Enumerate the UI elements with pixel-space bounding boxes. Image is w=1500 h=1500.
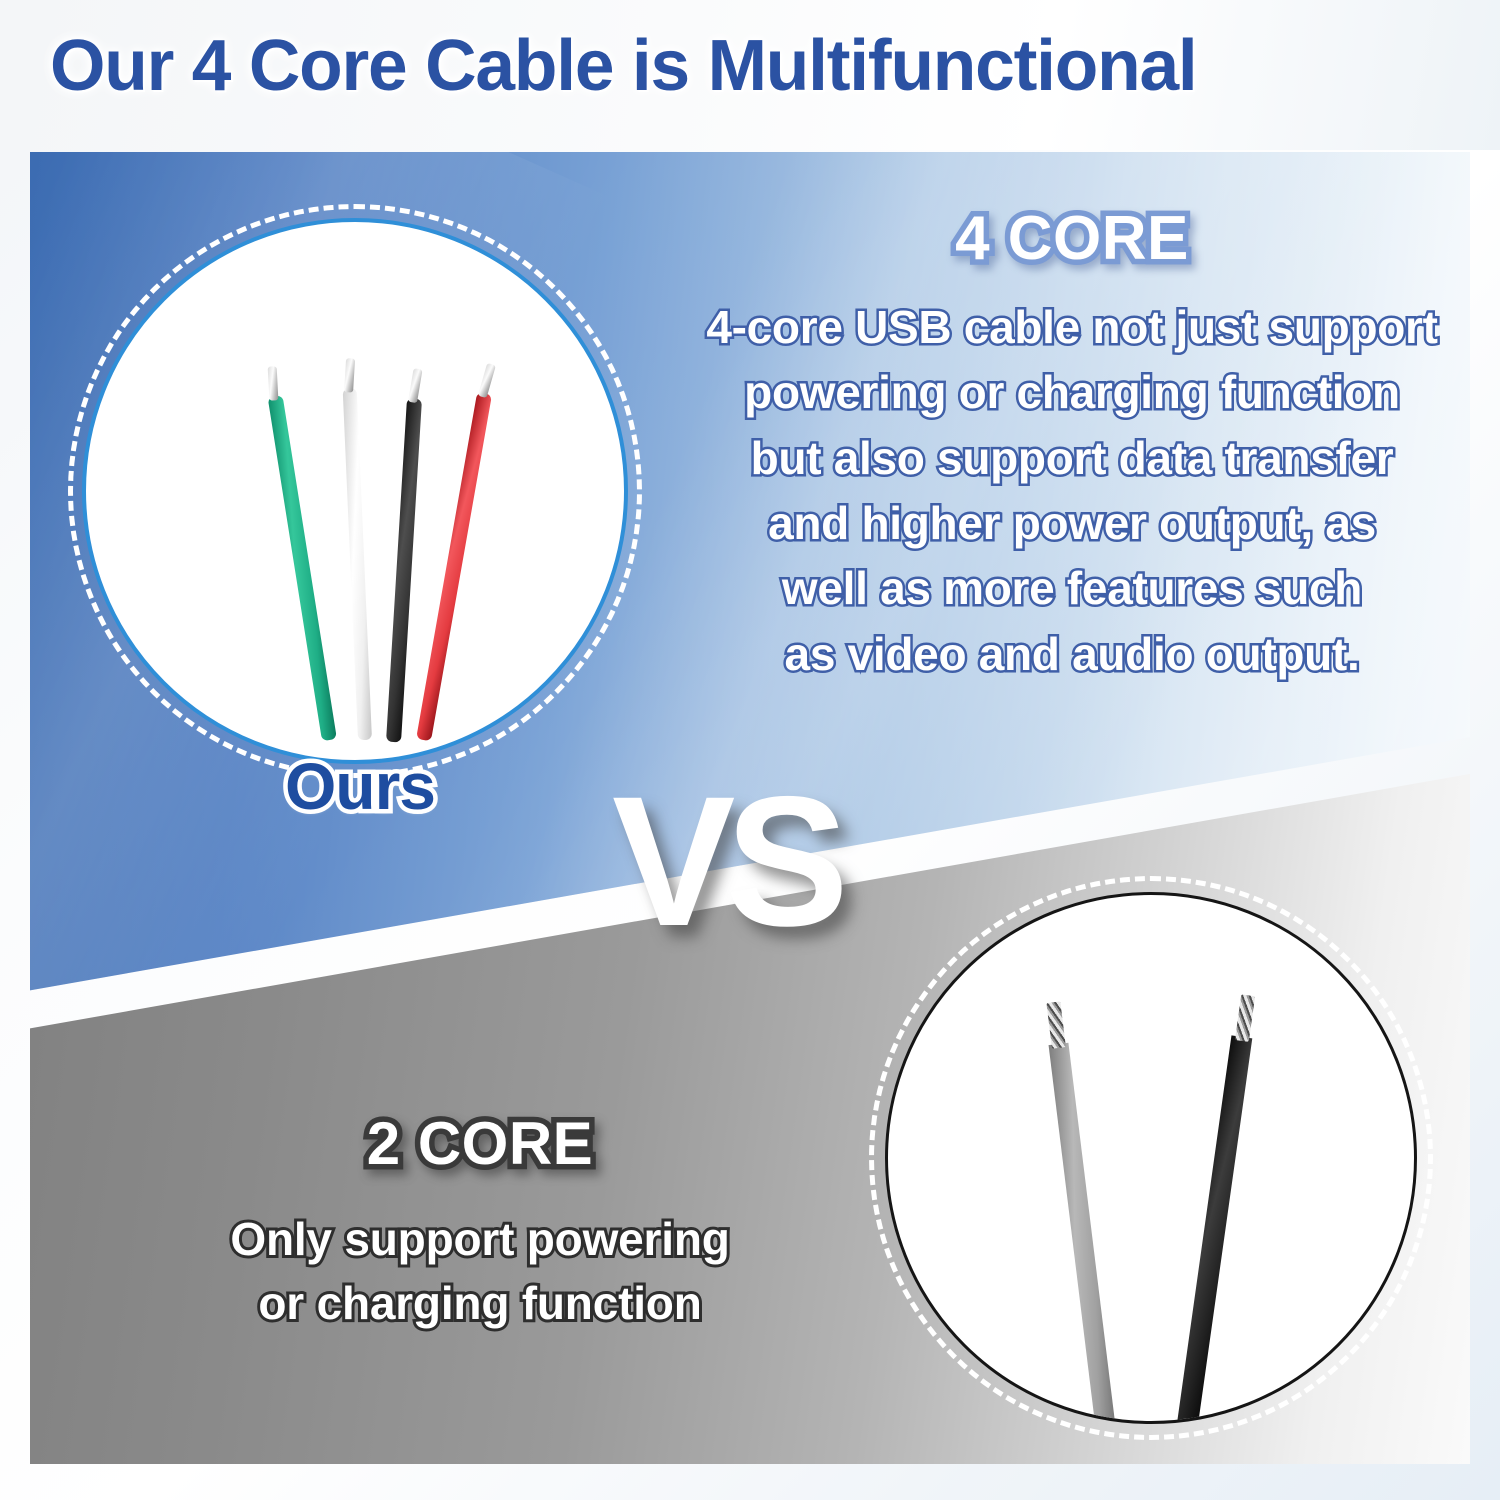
photo-circle bbox=[885, 892, 1417, 1424]
two-core-text-block: 2 CORE Only support powering or charging… bbox=[110, 1112, 850, 1336]
four-core-description: 4-core USB cable not just support poweri… bbox=[672, 295, 1472, 687]
four-core-wire-photo bbox=[82, 218, 628, 764]
two-core-heading: 2 CORE bbox=[110, 1112, 850, 1175]
infographic-page: Our 4 Core Cable is Multifunctional bbox=[0, 0, 1500, 1500]
wire-tip-icon bbox=[268, 366, 279, 400]
photo-circle bbox=[82, 218, 628, 764]
two-core-wire-photo bbox=[885, 892, 1417, 1424]
page-title: Our 4 Core Cable is Multifunctional bbox=[50, 30, 1456, 102]
four-core-text-block: 4 CORE 4-core USB cable not just support… bbox=[672, 206, 1472, 687]
white-wire bbox=[343, 388, 372, 740]
four-core-heading: 4 CORE bbox=[672, 206, 1472, 271]
black-wire bbox=[1176, 1035, 1252, 1424]
wire-tip-icon bbox=[478, 363, 496, 398]
black-wire bbox=[386, 398, 422, 742]
gray-wire bbox=[1049, 1043, 1116, 1424]
wire-tip-icon bbox=[344, 358, 355, 392]
vs-label: VS bbox=[612, 770, 839, 955]
two-core-description-line-1: Only support powering bbox=[110, 1207, 850, 1271]
two-core-description-line-2: or charging function bbox=[110, 1271, 850, 1335]
wire-tip-icon bbox=[408, 368, 422, 403]
wire-strand-tip-icon bbox=[1046, 1001, 1066, 1048]
red-wire bbox=[416, 392, 492, 741]
two-core-description: Only support powering or charging functi… bbox=[110, 1207, 850, 1336]
wire-strand-tip-icon bbox=[1234, 994, 1254, 1042]
header-band: Our 4 Core Cable is Multifunctional bbox=[0, 0, 1500, 150]
green-wire bbox=[268, 395, 337, 741]
